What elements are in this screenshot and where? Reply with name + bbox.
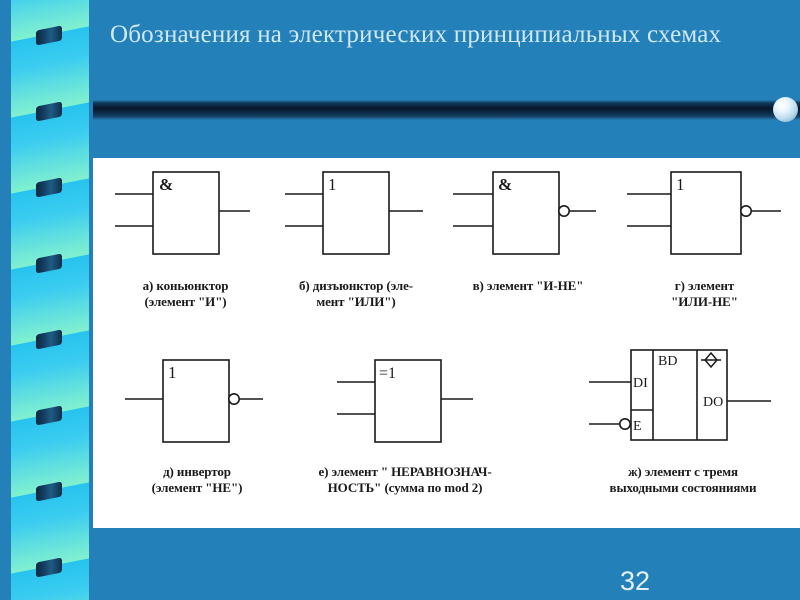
inversion-bubble-icon <box>229 394 239 404</box>
svg-text:1: 1 <box>328 175 337 194</box>
gate-caption-tristate: ж) элемент с тремя выходными состояниями <box>563 464 800 496</box>
gate-figure-not: 1 <box>123 354 263 454</box>
svg-text:&: & <box>159 175 173 194</box>
svg-text:DI: DI <box>633 376 648 391</box>
divider-sphere-icon <box>773 97 798 122</box>
gate-figure-nor: 1 <box>623 166 783 266</box>
gate-figure-and: & <box>115 166 250 266</box>
inversion-bubble-icon <box>620 419 630 429</box>
content-panel: & а) коньюнктор (элемент "И") 1 б) дизъю… <box>93 158 800 528</box>
inversion-bubble-icon <box>741 206 751 216</box>
title-divider <box>93 97 800 123</box>
gate-caption-not: д) инвертор (элемент "НЕ") <box>107 464 287 496</box>
gate-caption-nand: в) элемент "И-НЕ" <box>433 278 623 294</box>
gate-figure-or: 1 <box>283 166 423 266</box>
divider-bar <box>93 100 800 120</box>
svg-text:BD: BD <box>658 354 677 369</box>
gate-figure-nand: & <box>451 166 596 266</box>
svg-text:DO: DO <box>703 395 723 410</box>
inversion-bubble-icon <box>559 206 569 216</box>
slide: Обозначения на электрических принципиаль… <box>0 0 800 600</box>
page-title: Обозначения на электрических принципиаль… <box>110 18 770 51</box>
svg-text:1: 1 <box>168 363 177 382</box>
page-number: 32 <box>620 566 650 597</box>
ribbon-left-edge <box>0 0 11 600</box>
svg-text:=1: =1 <box>379 365 396 382</box>
svg-text:&: & <box>498 175 512 194</box>
gate-caption-or: б) дизъюнктор (эле- мент "ИЛИ") <box>261 278 451 310</box>
gate-caption-xor: е) элемент " НЕРАВНОЗНАЧ- НОСТЬ" (сумма … <box>275 464 535 496</box>
gate-figure-xor: =1 <box>333 354 478 454</box>
svg-text:E: E <box>633 419 642 434</box>
gate-figure-tristate: DI E BD DO <box>585 344 775 454</box>
svg-text:1: 1 <box>676 175 685 194</box>
ribbon-decoration <box>0 0 93 600</box>
gate-caption-and: а) коньюнктор (элемент "И") <box>93 278 278 310</box>
gate-caption-nor: г) элемент "ИЛИ-НЕ" <box>617 278 792 310</box>
